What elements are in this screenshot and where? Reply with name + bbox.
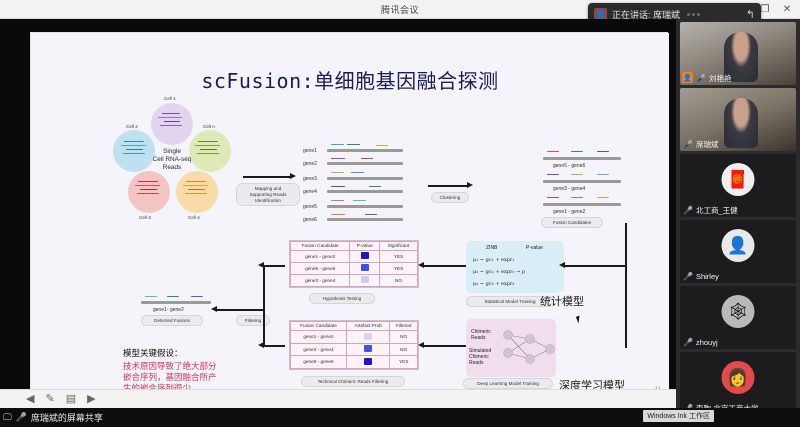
close-button[interactable]: ✕ <box>776 0 798 19</box>
presentation-slide: scFusion:单细胞基因融合探测 Cell 1 Cell 2 Cell n … <box>31 33 669 397</box>
gene-bar <box>327 218 403 221</box>
read-line <box>167 296 179 297</box>
chimeric-reads-input-label: Chimeric Reads <box>471 329 491 341</box>
pvalue-swatch <box>361 276 369 283</box>
column-header: P-value <box>350 242 380 251</box>
cell-3-label: Cell 3 <box>139 215 151 220</box>
avatar: 🧧 <box>722 163 755 196</box>
artefact-swatch <box>364 345 372 352</box>
clustering-arrow <box>428 185 468 187</box>
hypothesis-testing-table: Fusion Candidate P-value Significant gen… <box>289 240 419 288</box>
read-line <box>597 174 609 175</box>
participant-tile[interactable]: 👤 🎤 刘艳艳 <box>680 22 796 85</box>
more-dots-icon <box>687 13 700 16</box>
read-line <box>365 214 377 215</box>
read-line <box>331 200 344 201</box>
table-row: gene5 - gene6 YES <box>291 263 418 275</box>
candidate-cell: gene5 - gene6 <box>291 356 347 369</box>
pvalue-cell <box>350 251 380 263</box>
tencent-meeting-window: 腾讯会议 — ❐ ✕ 👤 正在讲话: 席瑞斌 ↰ scFusion:单细胞基因融… <box>0 0 800 427</box>
avatar: 👩 <box>722 361 755 394</box>
artefact-filtering-table: Fusion Candidate Artefact Prob Filtered … <box>289 320 419 370</box>
read-line <box>361 158 373 159</box>
participant-tile[interactable]: 🎤 席瑞斌 <box>680 88 796 151</box>
fusion-pair-label: gene1 - gene2 <box>553 209 585 215</box>
right-feed-line <box>625 223 627 348</box>
read-line <box>571 174 583 175</box>
candidate-cell: gene1 - gene2 <box>291 251 350 263</box>
candidate-cell: gene5 - gene6 <box>291 263 350 275</box>
participant-name: 北工商_王健 <box>696 205 738 216</box>
cell-1-label: Cell 1 <box>164 96 176 101</box>
participant-namebar: 🎤 zhouyj <box>680 336 796 349</box>
mic-icon[interactable]: 🎤 <box>683 140 693 149</box>
cell-4-label: Cell 4 <box>188 215 200 220</box>
cell-n-label: Cell n <box>203 124 215 129</box>
read-line <box>331 186 345 187</box>
microphone-icon[interactable]: 🎤 <box>16 412 27 423</box>
next-slide-button[interactable]: ▶ <box>87 394 95 405</box>
assumption-heading: 模型关键假设： <box>123 348 183 359</box>
filtered-cell: YES <box>390 356 418 369</box>
fusion-bar <box>543 203 621 206</box>
mapping-step-label: Mapping and Supporting Reads Identificat… <box>236 183 300 206</box>
table-row: gene1 - gene2 YES <box>291 251 418 263</box>
feed-in-stat-arrow <box>564 265 626 267</box>
avatar: 🕸 <box>722 295 755 328</box>
participant-tile[interactable]: 🧧 🎤 北工商_王健 <box>680 154 796 217</box>
slide-overview-button[interactable]: ▤ <box>66 394 76 405</box>
read-line <box>331 144 344 145</box>
mic-icon[interactable]: 🎤 <box>683 272 693 281</box>
windows-ink-badge[interactable]: Windows Ink 工作区 <box>643 410 714 422</box>
filtered-cell: NO <box>390 343 418 356</box>
artefact-swatch <box>364 333 372 340</box>
cell-3-circle <box>128 171 170 213</box>
read-line <box>547 151 559 152</box>
participant-namebar: 🎤 席瑞斌 <box>680 138 796 151</box>
column-header: Significant <box>380 242 418 251</box>
read-line <box>369 186 381 187</box>
participants-rail[interactable]: 👤 🎤 刘艳艳 🎤 席瑞斌 🧧 🎤 北工商_王健 👤 🎤 <box>676 19 800 408</box>
gene-bar <box>327 162 403 165</box>
screen-share-label: 席瑞斌的屏幕共享 <box>31 411 103 424</box>
participant-name: 刘艳艳 <box>709 73 732 84</box>
artefact-prob-cell <box>346 356 389 369</box>
screen-share-icon: 🖵 <box>3 412 12 423</box>
significant-cell: YES <box>380 263 418 275</box>
pvalue-swatch <box>361 252 369 259</box>
read-line <box>597 151 609 152</box>
window-title: 腾讯会议 <box>381 3 419 16</box>
mapping-arrow <box>243 176 291 178</box>
read-line <box>571 197 583 198</box>
participant-namebar: 🎤 Shirley <box>680 270 796 283</box>
participant-tile[interactable]: 🕸 🎤 zhouyj <box>680 286 796 349</box>
deep-learning-training-label: Deep Learning Model Training <box>463 378 553 389</box>
column-header: Fusion Candidate <box>291 322 347 331</box>
gene-label: gene4 <box>303 189 317 195</box>
previous-slide-button[interactable]: ◀ <box>26 394 34 405</box>
single-cell-reads-label: Single Cell RNA-seq Reads <box>142 148 202 172</box>
read-line <box>331 158 345 159</box>
pvalue-swatch <box>361 264 369 271</box>
table-to-filter-arrow <box>263 265 285 267</box>
cell-1-circle <box>151 103 193 145</box>
connector-line-2 <box>263 309 265 347</box>
filtering-arrow <box>216 309 264 311</box>
read-line <box>571 151 583 152</box>
read-line <box>547 197 559 198</box>
read-line <box>347 144 360 145</box>
technical-filtering-label: Technical Chimeric Reads Filtering <box>301 376 405 387</box>
table-row: gene3 - gene4 NO <box>291 275 418 287</box>
significant-cell: YES <box>380 251 418 263</box>
mic-icon[interactable]: 🎤 <box>696 74 706 83</box>
gene-label: gene5 <box>303 204 317 210</box>
avatar: 👤 <box>722 229 755 262</box>
gene-label: gene2 <box>303 161 317 167</box>
artefact-to-filter-arrow <box>263 345 285 347</box>
read-line <box>597 197 609 198</box>
mic-icon[interactable]: 🎤 <box>683 206 693 215</box>
read-line <box>353 200 366 201</box>
presenter-toolbar: ◀ ✎ ▤ ▶ <box>0 389 676 408</box>
zinb-to-table-arrow <box>423 265 468 267</box>
shared-screen-area: scFusion:单细胞基因融合探测 Cell 1 Cell 2 Cell n … <box>0 19 676 408</box>
participant-namebar: 🎤 北工商_王健 <box>680 204 796 217</box>
read-line <box>145 296 157 297</box>
participant-name: zhouyj <box>696 338 718 347</box>
artefact-swatch <box>364 358 372 365</box>
pen-tool-button[interactable]: ✎ <box>45 394 54 405</box>
mic-icon[interactable]: 🎤 <box>683 338 693 347</box>
gene-bar <box>327 149 403 152</box>
read-line <box>331 172 344 173</box>
participant-namebar: 🎤 李陶·北京工商大学 <box>680 402 796 408</box>
statistical-model-cn-label: 统计模型 <box>540 293 584 309</box>
pvalue-cell <box>350 275 380 287</box>
read-line <box>376 145 388 146</box>
zinb-title: ZINB <box>486 245 497 251</box>
gene-bar <box>327 190 403 193</box>
slide-title: scFusion:单细胞基因融合探测 <box>31 65 669 94</box>
table-row: gene3 - gene4 NO <box>291 343 418 356</box>
table-header-row: Fusion Candidate P-value Significant <box>291 242 418 251</box>
table-row: gene1 - gene2 NO <box>291 331 418 344</box>
gene-label: gene6 <box>303 217 317 223</box>
gene-bar <box>327 177 403 180</box>
participant-namebar: 🎤 刘艳艳 <box>680 72 796 85</box>
significant-cell: NO <box>380 275 418 287</box>
fusion-pair-label: gene3 - gene4 <box>553 186 585 192</box>
candidate-cell: gene1 - gene2 <box>291 331 347 344</box>
fusion-pair-label: gene5 - gene6 <box>553 163 585 169</box>
candidate-cell: gene3 - gene4 <box>291 343 347 356</box>
participant-name: Shirley <box>696 272 719 281</box>
gene-label: gene1 <box>303 148 317 154</box>
candidate-cell: gene3 - gene4 <box>291 275 350 287</box>
participant-name: 李陶·北京工商大学 <box>696 403 759 408</box>
artefact-prob-cell <box>346 331 389 344</box>
participant-name: 席瑞斌 <box>696 139 719 150</box>
read-line <box>191 296 203 297</box>
detected-fusion-bar <box>141 301 211 304</box>
filtered-cell: NO <box>390 331 418 344</box>
gene-bar <box>327 205 403 208</box>
zinb-formula-1: μ₁ ~ gc₁ + expr₁ <box>473 257 514 263</box>
detected-fusion-label: gene1- gene2 <box>153 307 184 313</box>
read-line <box>331 214 345 215</box>
fusion-bar <box>543 180 621 183</box>
column-header: Fusion Candidate <box>291 242 350 251</box>
neural-network-icon <box>498 323 560 375</box>
clustering-step-label: Clustering <box>431 192 469 203</box>
read-line <box>547 174 559 175</box>
filtering-step-label: Filtering <box>236 315 270 326</box>
table-header-row: Fusion Candidate Artefact Prob Filtered <box>291 322 418 331</box>
participant-tile[interactable]: 👤 🎤 Shirley <box>680 220 796 283</box>
mic-icon[interactable]: 🎤 <box>683 404 693 408</box>
fusion-bar <box>543 157 621 160</box>
slide-frame: scFusion:单细胞基因融合探测 Cell 1 Cell 2 Cell n … <box>30 32 668 396</box>
cell-2-label: Cell 2 <box>126 124 138 129</box>
connector-line <box>263 265 265 310</box>
column-header: Filtered <box>390 322 418 331</box>
participant-tile[interactable]: 👩 🎤 李陶·北京工商大学 <box>680 352 796 408</box>
zinb-pvalue-title: P-value <box>526 245 543 251</box>
zinb-formula-2: μ₂ ~ gc₂ + expr₂ → p <box>473 269 525 275</box>
hypothesis-testing-label: Hypothesis Testing <box>309 293 375 304</box>
zinb-formula-3: μ₃ ~ gc₃ + expr₃ <box>473 281 514 287</box>
dl-to-artefact-arrow <box>423 345 471 347</box>
artefact-prob-cell <box>346 343 389 356</box>
cell-4-circle <box>176 171 218 213</box>
pvalue-cell <box>350 263 380 275</box>
column-header: Artefact Prob <box>346 322 389 331</box>
table-row: gene5 - gene6 YES <box>291 356 418 369</box>
mouse-cursor-icon <box>576 316 582 324</box>
gene-label: gene3 <box>303 176 317 182</box>
detected-fusions-label: Detected Fusions <box>141 315 203 326</box>
fusion-candidates-label: Fusion Candidates <box>541 217 603 228</box>
simulated-chimeric-reads-input-label: Simulated Chimeric Reads <box>469 348 491 366</box>
read-line <box>351 172 364 173</box>
